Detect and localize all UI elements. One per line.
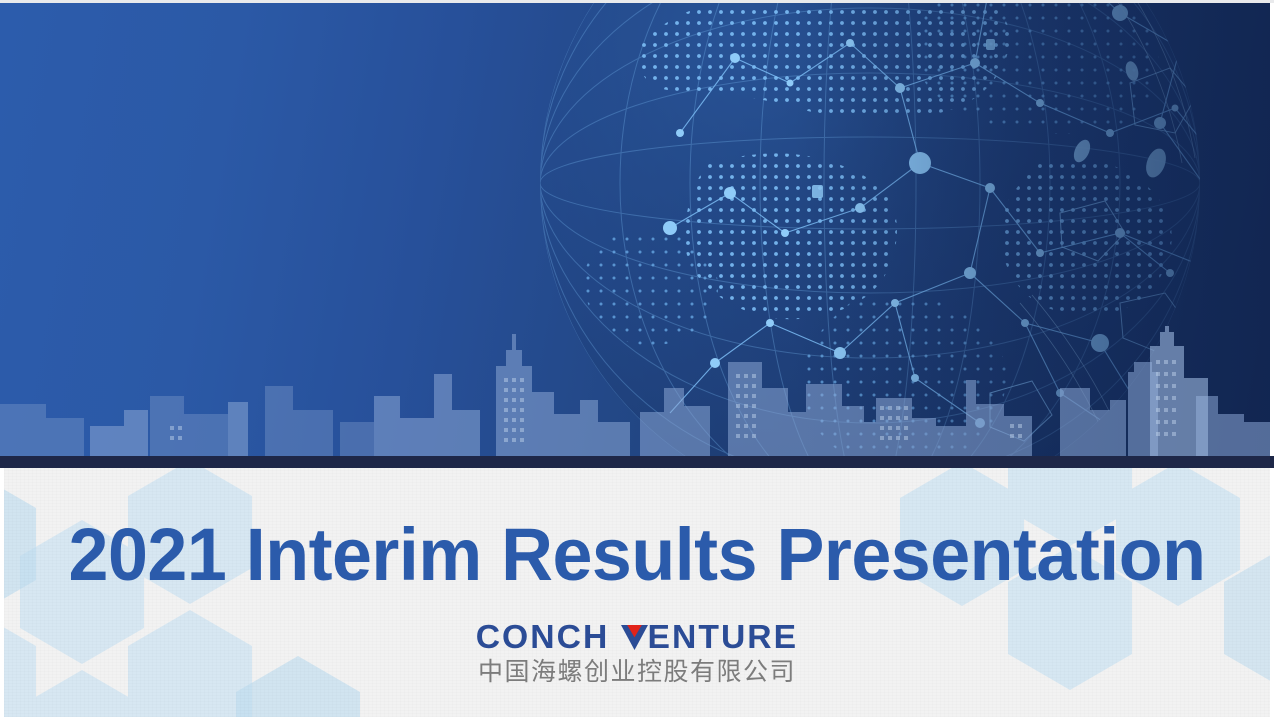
page-title: 2021 Interim Results Presentation [19,515,1255,595]
company-logo: CONCH ENTURE 中国海螺创业控股有限公司 [0,620,1274,687]
presentation-slide: 2021 Interim Results Presentation CONCH … [0,0,1274,717]
red-triangle-v-icon [621,625,648,650]
hero-banner [0,3,1274,456]
logo-wordmark: CONCH ENTURE [477,620,797,654]
city-skyline-graphic [0,326,1274,456]
navy-divider-band [0,456,1274,468]
skyline-icon [0,326,1274,456]
logo-chinese-name: 中国海螺创业控股有限公司 [0,657,1274,687]
banner-right-edge [1270,3,1274,456]
logo-text-conch: CONCH [476,620,610,654]
logo-text-enture: ENTURE [648,620,799,654]
